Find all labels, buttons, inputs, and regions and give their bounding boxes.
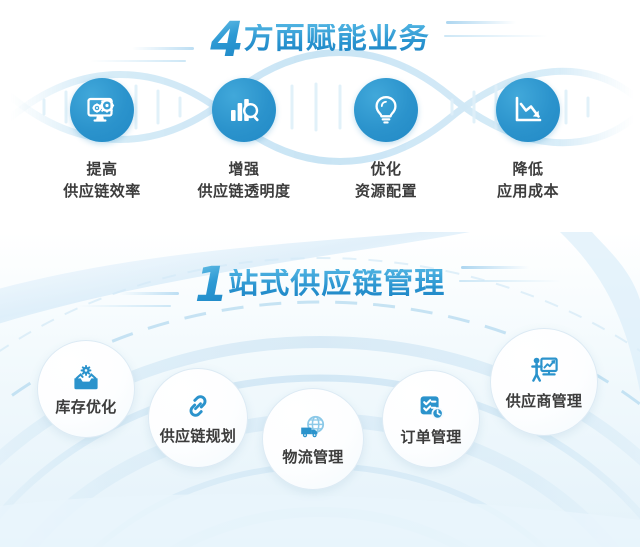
capability-icon-circle-3: [354, 78, 418, 142]
capability-icon-circle-1: [70, 78, 134, 142]
service-label-supplier: 供应商管理: [506, 390, 583, 411]
platform-services: 库存优化 供应链规划: [0, 300, 640, 547]
presenter-board-icon: [528, 354, 560, 386]
capability-label-1-line1: 提高: [86, 161, 117, 178]
service-bubble-logistics[interactable]: 物流管理: [262, 388, 364, 490]
title-accent-line-right-2: [444, 35, 548, 37]
globe-truck-icon: [298, 412, 328, 442]
capability-label-3-line1: 优化: [370, 161, 401, 178]
capabilities-section-title: 4方面赋能业务: [0, 16, 640, 64]
capability-icon-circle-2: [212, 78, 276, 142]
capability-label-4-line2: 应用成本: [464, 181, 592, 203]
service-label-planning: 供应链规划: [160, 425, 237, 446]
infographic-canvas: 4方面赋能业务: [0, 0, 640, 547]
platform-accent-line-right-1: [461, 266, 529, 269]
platform-accent-line-left-1: [119, 292, 179, 295]
capability-label-4: 降低 应用成本: [464, 159, 592, 203]
capability-item-4[interactable]: 降低 应用成本: [464, 78, 592, 203]
capability-label-3-line2: 资源配置: [322, 181, 450, 203]
capabilities-title-text: 方面赋能业务: [244, 24, 430, 54]
capability-label-2-line1: 增强: [228, 161, 259, 178]
title-accent-line-left-2: [90, 60, 186, 62]
service-label-logistics: 物流管理: [282, 446, 343, 467]
capabilities-number: 4: [210, 16, 243, 64]
capability-label-2: 增强 供应链透明度: [180, 159, 308, 203]
monitor-gears-icon: [85, 93, 119, 127]
lightbulb-icon: [369, 93, 403, 127]
platform-accent-line-right-2: [459, 280, 561, 282]
bar-chart-magnifier-icon: [227, 93, 261, 127]
inventory-box-gear-icon: [71, 362, 101, 392]
capabilities-row: 提高 供应链效率 增强 供应链透明度: [0, 78, 640, 218]
service-bubble-planning[interactable]: 供应链规划: [148, 368, 248, 468]
service-bubble-orders[interactable]: 订单管理: [382, 370, 480, 468]
capability-item-3[interactable]: 优化 资源配置: [322, 78, 450, 203]
capability-label-4-line1: 降低: [512, 161, 543, 178]
capability-icon-circle-4: [496, 78, 560, 142]
service-label-inventory: 库存优化: [55, 396, 116, 417]
service-bubble-inventory[interactable]: 库存优化: [37, 340, 135, 438]
capability-label-3: 优化 资源配置: [322, 159, 450, 203]
declining-chart-icon: [511, 93, 545, 127]
clipboard-clock-icon: [416, 392, 446, 422]
service-label-orders: 订单管理: [400, 426, 461, 447]
chain-link-icon: [183, 391, 213, 421]
service-bubble-supplier[interactable]: 供应商管理: [490, 328, 598, 436]
platform-title-text: 站式供应链管理: [228, 269, 445, 299]
capability-label-2-line2: 供应链透明度: [180, 181, 308, 203]
capability-label-1: 提高 供应链效率: [38, 159, 166, 203]
capability-item-1[interactable]: 提高 供应链效率: [38, 78, 166, 203]
title-accent-line-right-1: [446, 21, 516, 24]
capability-item-2[interactable]: 增强 供应链透明度: [180, 78, 308, 203]
capability-label-1-line2: 供应链效率: [38, 181, 166, 203]
title-accent-line-left-1: [132, 47, 194, 50]
